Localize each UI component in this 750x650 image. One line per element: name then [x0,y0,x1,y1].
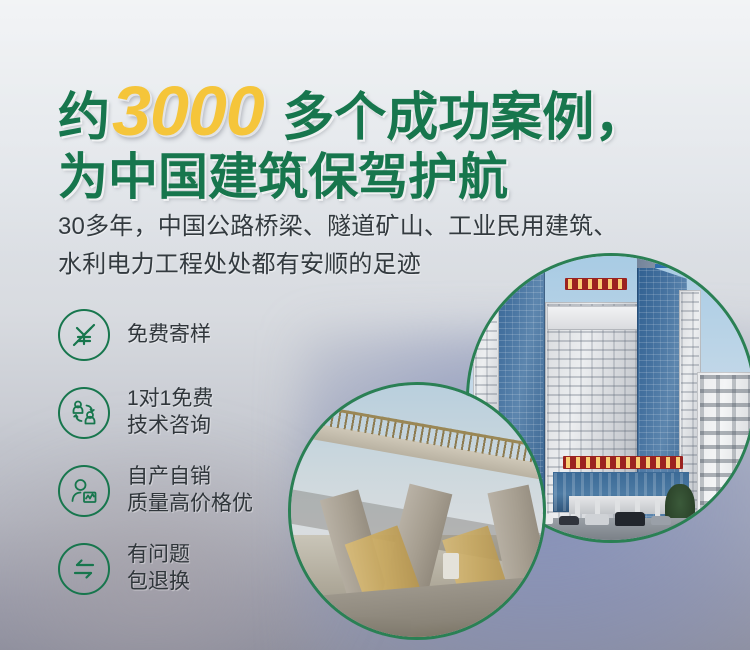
headline-prefix: 约 [58,89,110,147]
feature-label: 1对1免费 技术咨询 [127,386,213,440]
right-white-building [697,372,750,532]
headline-number: 3000 [110,72,268,150]
car-dark-1 [559,516,579,525]
bridge-photo-clip [291,385,543,637]
feature-label-line-1: 免费寄样 [127,323,211,346]
promo-banner: 约3000 多个成功案例， 为中国建筑保驾护航 30多年，中国公路桥梁、隧道矿山… [0,0,750,650]
exchange-arrows-icon [58,543,110,595]
feature-label-line-1: 1对1免费 [127,386,213,413]
vehicle-under-bridge [443,553,459,579]
no-fee-yuan-icon [58,309,110,361]
car-grey-1 [651,516,671,525]
feature-label-line-1: 有问题 [127,542,190,569]
entrance-red-sign [563,456,683,469]
bridge-ground-left [291,617,411,637]
feature-label: 免费寄样 [127,322,211,349]
feature-item-free-sample[interactable]: 免费寄样 [58,296,318,374]
subtitle-line-1: 30多年，中国公路桥梁、隧道矿山、工业民用建筑、 [58,208,718,246]
feature-label-line-1: 自产自销 [127,464,253,491]
headline-suffix: 多个成功案例， [268,89,646,147]
headline-line-1: 约3000 多个成功案例， [58,76,698,146]
entrance-column-1 [575,500,580,516]
bridge-viaduct-photo [288,382,546,640]
headline: 约3000 多个成功案例， 为中国建筑保驾护航 [58,76,698,202]
two-person-exchange-icon [58,387,110,439]
feature-label-line-2: 质量高价格优 [127,491,253,518]
van-dark [615,512,645,526]
headline-line-2: 为中国建筑保驾护航 [58,152,698,202]
rooftop-red-sign [565,278,627,290]
feature-list: 免费寄样 1对1免 [58,296,318,608]
car-silver-1 [585,514,609,525]
feature-label: 自产自销 质量高价格优 [127,464,253,518]
feature-item-consultation[interactable]: 1对1免费 技术咨询 [58,374,318,452]
feature-label-line-2: 技术咨询 [127,413,213,440]
feature-label-line-2: 包退换 [127,569,190,596]
feature-label: 有问题 包退换 [127,542,190,596]
feature-item-returns[interactable]: 有问题 包退换 [58,530,318,608]
center-slab-crown [547,306,639,330]
tower-right-logo [655,264,669,268]
feature-item-self-produced[interactable]: 自产自销 质量高价格优 [58,452,318,530]
person-chart-icon [58,465,110,517]
entrance-column-5 [655,500,660,516]
